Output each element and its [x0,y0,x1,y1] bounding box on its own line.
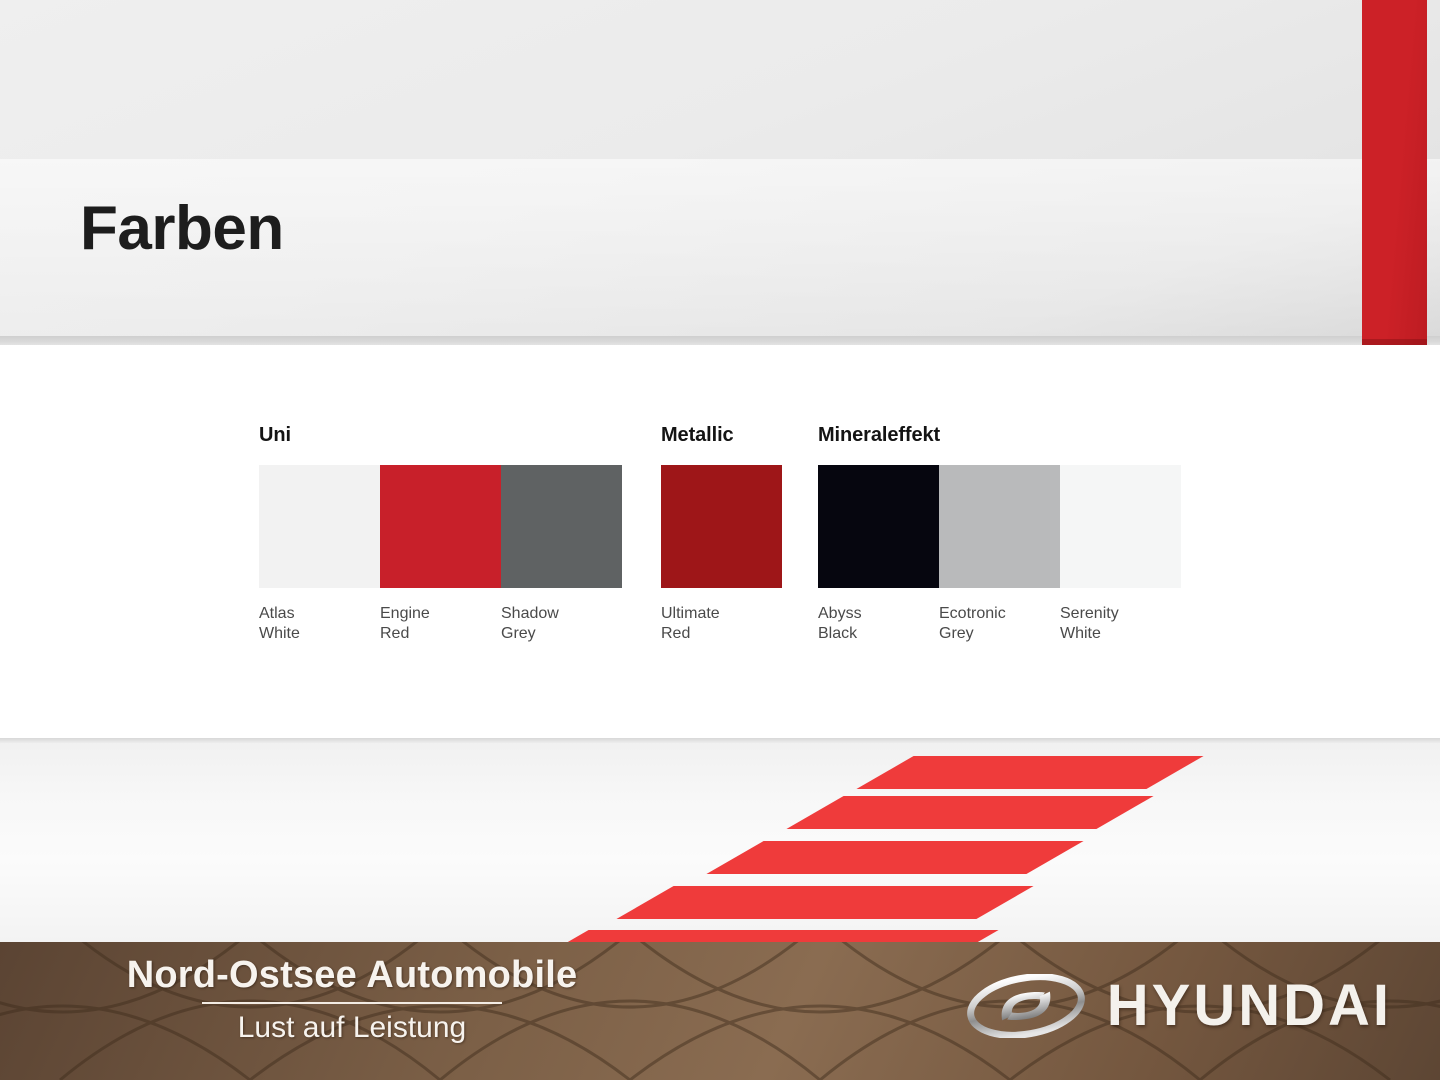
color-group-title: Mineraleffekt [818,425,1181,445]
speed-stripe [706,841,1083,874]
color-group-metallic: Metallic Ultimate Red [661,425,782,644]
dealer-tagline: Lust auf Leistung [62,1012,642,1044]
hyundai-brand-lockup: HYUNDAI [967,974,1392,1038]
page-title: Farben [80,198,284,260]
footer-band: Nord-Ostsee Automobile Lust auf Leistung [0,942,1440,1080]
speed-stripe [531,930,998,942]
color-swatch-label: Atlas White [259,604,380,644]
color-swatch-shadow-grey[interactable] [501,465,622,588]
speed-stripe [786,796,1153,829]
color-group-row: Uni Atlas White Engine Red Shadow Grey [259,425,1181,644]
header-accent-bar [1362,0,1427,345]
swatch-strip: Ultimate Red [661,465,782,644]
decorative-stripe-band [0,738,1440,942]
swatch-item[interactable]: Serenity White [1060,465,1181,644]
color-swatch-label: Shadow Grey [501,604,622,644]
hyundai-wordmark: HYUNDAI [1107,977,1392,1035]
band-top-edge [0,738,1440,743]
color-group-mineraleffekt: Mineraleffekt Abyss Black Ecotronic Grey… [818,425,1181,644]
header-bottom-edge [0,336,1440,345]
color-swatch-engine-red[interactable] [380,465,501,588]
color-swatch-label: Abyss Black [818,604,939,644]
speed-stripe [616,886,1033,919]
main-content-area: Uni Atlas White Engine Red Shadow Grey [0,345,1440,738]
hyundai-emblem-icon [967,974,1085,1038]
color-group-uni: Uni Atlas White Engine Red Shadow Grey [259,425,622,644]
dealer-logo: Nord-Ostsee Automobile Lust auf Leistung [62,956,642,1043]
color-group-title: Uni [259,425,622,445]
color-swatch-label: Ultimate Red [661,604,782,644]
color-swatch-label: Serenity White [1060,604,1181,644]
color-swatch-label: Engine Red [380,604,501,644]
swatch-item[interactable]: Atlas White [259,465,380,644]
color-swatch-ultimate-red[interactable] [661,465,782,588]
speed-stripe [856,756,1203,789]
color-swatch-ecotronic-grey[interactable] [939,465,1060,588]
color-swatch-serenity-white[interactable] [1060,465,1181,588]
swatch-item[interactable]: Shadow Grey [501,465,622,644]
swatch-item[interactable]: Ecotronic Grey [939,465,1060,644]
dealer-divider [202,1002,502,1004]
color-swatch-label: Ecotronic Grey [939,604,1060,644]
swatch-item[interactable]: Abyss Black [818,465,939,644]
swatch-item[interactable]: Engine Red [380,465,501,644]
header-band: Farben [0,0,1440,345]
swatch-item[interactable]: Ultimate Red [661,465,782,644]
dealer-name: Nord-Ostsee Automobile [62,956,642,996]
color-palette: Uni Atlas White Engine Red Shadow Grey [259,425,1181,644]
color-group-title: Metallic [661,425,782,445]
swatch-strip: Abyss Black Ecotronic Grey Serenity Whit… [818,465,1181,644]
color-swatch-abyss-black[interactable] [818,465,939,588]
swatch-strip: Atlas White Engine Red Shadow Grey [259,465,622,644]
color-swatch-atlas-white[interactable] [259,465,380,588]
